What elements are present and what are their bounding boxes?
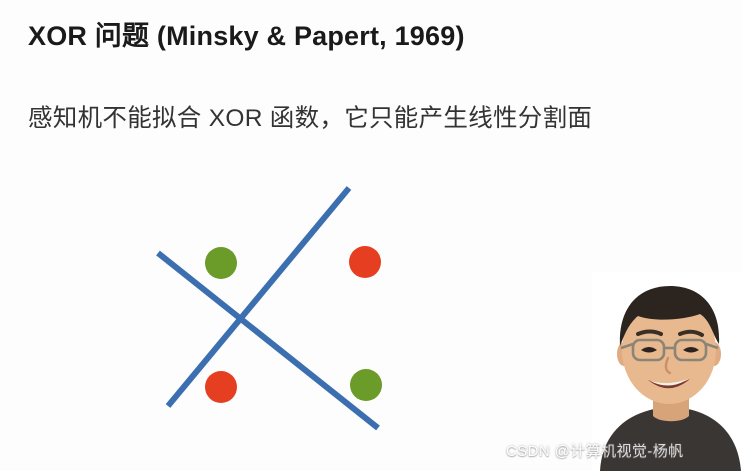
page-title: XOR 问题 (Minsky & Papert, 1969) bbox=[28, 14, 465, 53]
presenter-video-overlay[interactable] bbox=[592, 272, 742, 471]
data-point-bottom-left-red bbox=[205, 371, 237, 403]
slide-canvas: XOR 问题 (Minsky & Papert, 1969) 感知机不能拟合 X… bbox=[0, 0, 742, 471]
data-point-top-right-red bbox=[349, 246, 381, 278]
data-point-top-left-green bbox=[205, 247, 237, 279]
descending-separator-line bbox=[158, 253, 378, 428]
slide-subtitle: 感知机不能拟合 XOR 函数，它只能产生线性分割面 bbox=[28, 99, 592, 134]
ascending-separator-line bbox=[168, 188, 349, 406]
xor-scatter-diagram bbox=[140, 170, 410, 445]
data-point-bottom-right-green bbox=[350, 369, 382, 401]
